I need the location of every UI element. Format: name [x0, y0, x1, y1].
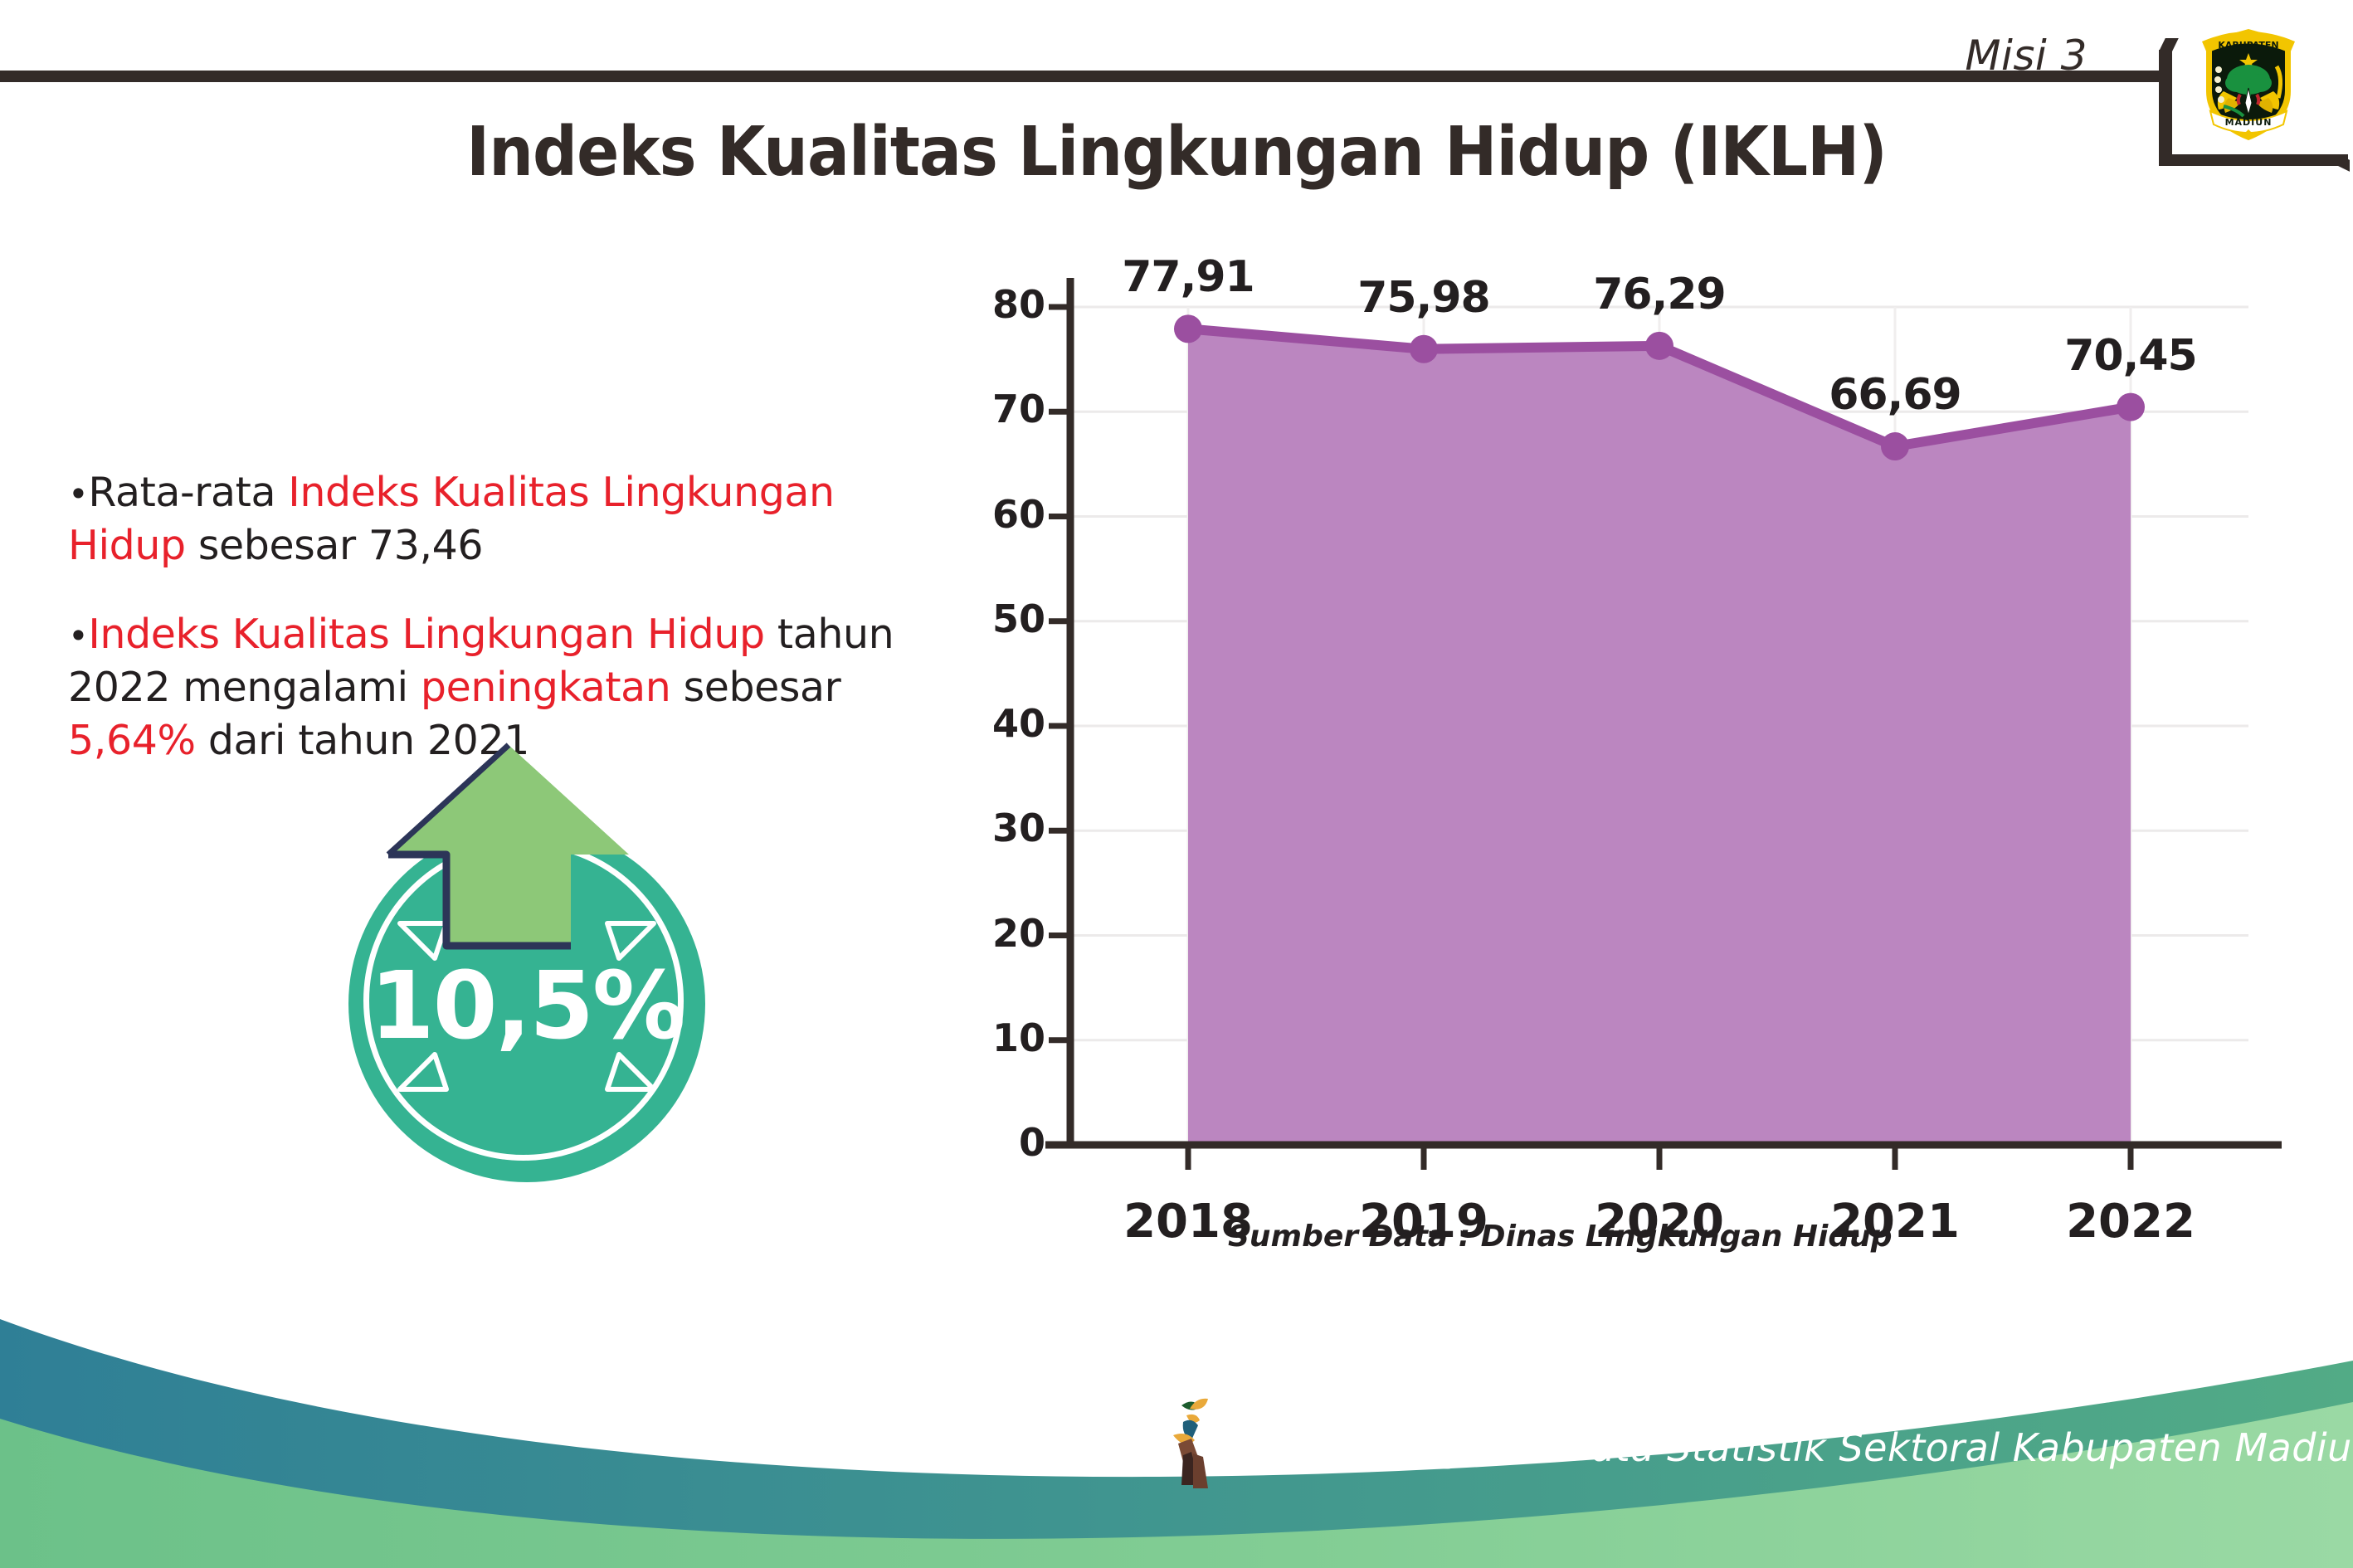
bullet-dot: •	[68, 474, 88, 514]
source-note: Sumber Data : Dinas Lingkungan Hidup	[1228, 1220, 1893, 1254]
bullet-text-0: Rata-rata Indeks Kualitas Lingkungan Hid…	[68, 469, 835, 569]
data-point-label: 70,45	[2035, 331, 2226, 381]
y-axis-tick-label: 0	[954, 1120, 1045, 1165]
data-point-label: 75,98	[1328, 273, 1519, 323]
x-axis-tick-label: 2022	[2031, 1195, 2230, 1249]
y-axis-tick-label: 40	[954, 701, 1045, 746]
y-axis-tick-label: 80	[954, 282, 1045, 327]
y-axis-tick-label: 60	[954, 492, 1045, 537]
bullet-segment: Rata-rata	[88, 469, 288, 516]
misi-label: Misi 3	[1965, 32, 2087, 80]
footer-caption: Media Infografis Data Statistik Sektoral…	[1236, 1425, 2353, 1470]
data-point-label: 66,69	[1800, 370, 1990, 420]
data-point-label: 77,91	[1093, 252, 1284, 302]
header-rule	[0, 71, 2159, 82]
page-title: Indeks Kualitas Lingkungan Hidup (IKLH)	[94, 113, 2258, 192]
y-axis-tick-label: 30	[954, 806, 1045, 850]
y-axis-tick-label: 70	[954, 387, 1045, 431]
y-axis-tick-label: 20	[954, 911, 1045, 956]
badge-value: 10,5%	[348, 952, 705, 1060]
slide-canvas: Misi 3 KABUPATEN	[0, 0, 2353, 1568]
iklh-area-chart: 01020304050607080 20182019202020212022 7…	[954, 274, 2282, 1269]
data-point-marker	[2117, 393, 2145, 421]
bullet-segment: peningkatan	[421, 664, 671, 711]
chart-svg	[954, 274, 2282, 1269]
statistics-figure-logo	[1153, 1392, 1233, 1492]
area-fill	[1188, 329, 2131, 1145]
y-axis-tick-label: 10	[954, 1015, 1045, 1060]
bullet-dot: •	[68, 616, 88, 657]
data-point-marker	[1174, 314, 1202, 343]
increase-badge: 10,5%	[315, 738, 747, 1186]
bullet-segment: Indeks Kualitas Lingkungan Hidup	[88, 611, 764, 658]
bullet-segment: sebesar 73,46	[186, 522, 483, 569]
data-point-marker	[1410, 335, 1438, 363]
data-point-marker	[1645, 332, 1673, 360]
emblem-top-text: KABUPATEN	[2218, 40, 2278, 51]
data-point-marker	[1881, 432, 1909, 460]
y-axis-tick-label: 50	[954, 597, 1045, 641]
up-arrow-icon	[380, 738, 637, 987]
footer-wave: Media Infografis Data Statistik Sektoral…	[0, 1286, 2353, 1568]
bullet-segment: sebesar	[670, 664, 840, 711]
list-item: •Rata-rata Indeks Kualitas Lingkungan Hi…	[68, 466, 964, 572]
bullet-segment: 5,64%	[68, 717, 196, 764]
data-point-label: 76,29	[1564, 270, 1755, 319]
